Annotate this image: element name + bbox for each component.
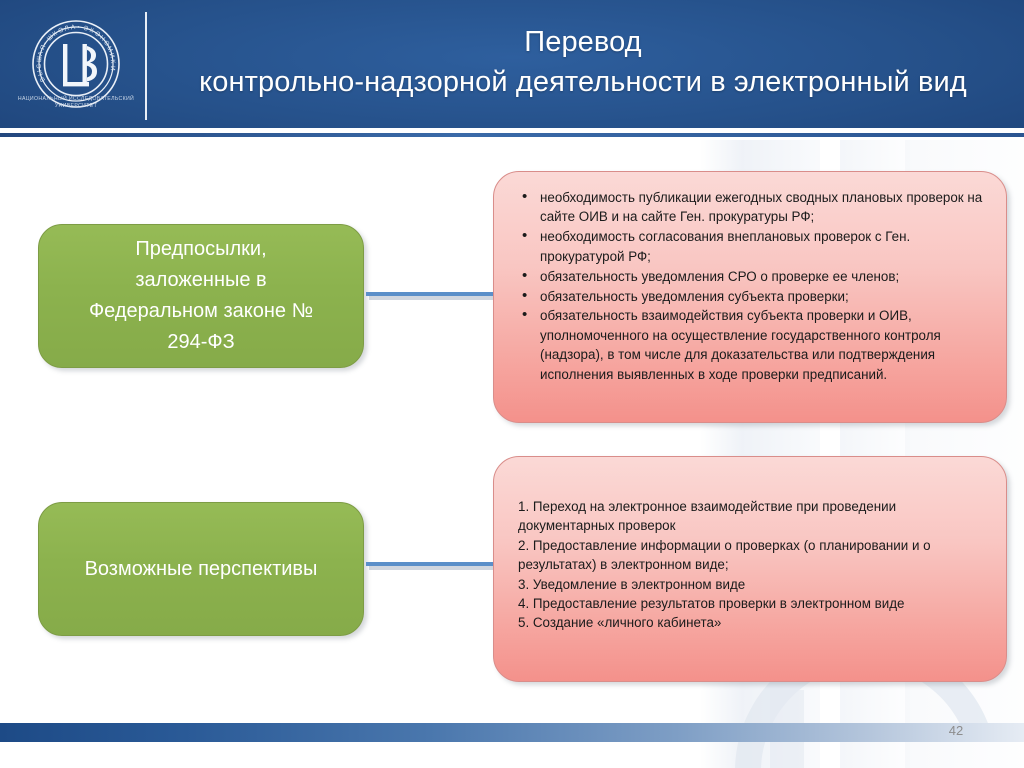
list-item: обязательность взаимодействия субъекта п… (514, 306, 984, 384)
svg-text:К: К (109, 59, 116, 64)
page-number: 42 (936, 722, 976, 740)
connector-shadow-1 (369, 296, 497, 300)
list-item: 3. Уведомление в электронном виде (518, 575, 984, 594)
svg-text:И: И (108, 52, 116, 59)
svg-text:Л: Л (64, 25, 71, 33)
list-item: обязательность уведомления СРО о проверк… (514, 267, 984, 286)
list-item: 1. Переход на электронное взаимодействие… (518, 497, 984, 536)
list-item: необходимость согласования внеплановых п… (514, 227, 984, 266)
page-title: Перевод контрольно-надзорной деятельност… (150, 22, 1016, 102)
list-item: необходимость публикации ежегодных сводн… (514, 188, 984, 227)
svg-text:И: И (109, 66, 116, 71)
detail-box-prospects: 1. Переход на электронное взаимодействие… (493, 456, 1007, 682)
list-item: 5. Создание «личного кабинета» (518, 613, 984, 632)
category-box-prospects: Возможные перспективы (38, 502, 364, 636)
list-item: обязательность уведомления субъекта пров… (514, 287, 984, 306)
premises-bullet-list: необходимость публикации ежегодных сводн… (514, 188, 984, 384)
list-item: 4. Предоставление результатов проверки в… (518, 594, 984, 613)
footer-gradient-bar (0, 723, 1024, 742)
category-box-premises: Предпосылки, заложенные в Федеральном за… (38, 224, 364, 368)
connector-shadow-2 (369, 566, 497, 570)
header-rule-white-bottom (0, 137, 1024, 140)
hse-logo-caption: НАЦИОНАЛЬНЫЙ ИССЛЕДОВАТЕЛЬСКИЙ УНИВЕРСИТ… (12, 96, 140, 110)
connector-line-1 (366, 292, 494, 296)
svg-text:С: С (36, 63, 44, 69)
presentation-slide: В Ы С Ш А Я • Ш К О Л А • Э К О Н (0, 0, 1024, 768)
header-divider (145, 12, 147, 120)
slide-header: В Ы С Ш А Я • Ш К О Л А • Э К О Н (0, 0, 1024, 128)
detail-box-premises: необходимость публикации ежегодных сводн… (493, 171, 1007, 423)
list-item: 2. Предоставление информации о проверках… (518, 536, 984, 575)
connector-line-2 (366, 562, 494, 566)
svg-text:А: А (70, 24, 76, 32)
svg-text:•: • (77, 24, 80, 31)
prospects-numbered-list: 1. Переход на электронное взаимодействие… (514, 473, 984, 633)
